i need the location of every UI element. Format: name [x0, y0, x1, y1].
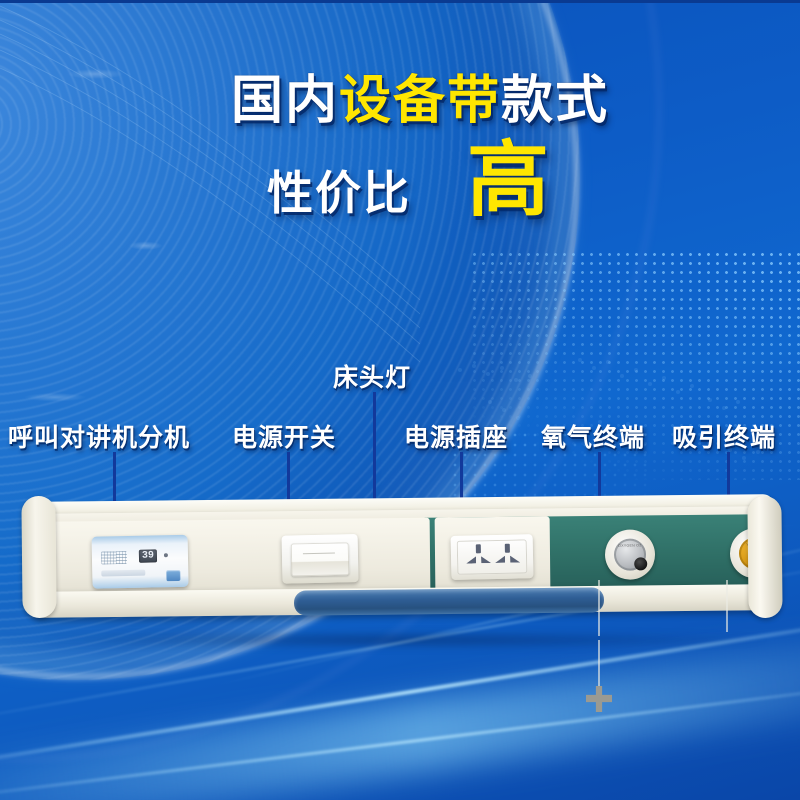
callout-label-socket: 电源插座 [404, 418, 508, 454]
card-slot [101, 570, 145, 577]
headline-emphasis: 高 [467, 144, 551, 218]
intercom-display: 39 [139, 549, 157, 562]
socket-faceplate [457, 539, 528, 574]
poster-canvas: 国内 设备带 款式 性价比 高 呼叫对讲机分机 电源开关 床头灯 电源插座 氧气… [0, 0, 800, 800]
pull-switch-cord [598, 640, 600, 690]
callout-label-suction: 吸引终端 [672, 418, 776, 454]
oxygen-terminal-core[interactable]: OXYGEN O2 [614, 538, 647, 571]
nurse-call-intercom-unit[interactable]: 39 [92, 535, 189, 589]
socket-pin-live-icon [495, 556, 505, 563]
panel-end-cap-left [21, 496, 56, 618]
socket-pin-neutral-icon [481, 556, 491, 563]
oxygen-hanging-cord [598, 580, 600, 636]
power-switch[interactable] [282, 534, 359, 584]
callout-label-switch: 电源开关 [232, 418, 336, 454]
headline-line-1: 国内 设备带 款式 [0, 72, 800, 130]
panel-end-cap-right [747, 496, 782, 618]
headline-seg-3: 款式 [501, 72, 609, 130]
indicator-led-icon [164, 553, 168, 557]
callout-label-oxygen: 氧气终端 [541, 418, 645, 454]
callout-label-intercom: 呼叫对讲机分机 [8, 418, 190, 454]
bed-lamp-diffuser-cover [294, 587, 604, 615]
headline-seg-2: 设备带 [339, 72, 501, 130]
speaker-grille-icon [101, 551, 127, 565]
socket-pin-neutral-icon [510, 555, 520, 562]
socket-outlet-left[interactable] [464, 543, 495, 570]
medical-bed-head-unit: 39 [22, 492, 782, 640]
socket-outlet-right[interactable] [493, 542, 524, 569]
top-edge-strip [0, 0, 800, 3]
rocker-paddle[interactable] [291, 542, 350, 576]
call-button[interactable] [166, 570, 180, 581]
oxygen-terminal-marking: OXYGEN O2 [614, 543, 646, 548]
headline-block: 国内 设备带 款式 性价比 高 [0, 72, 800, 218]
socket-pin-live-icon [466, 556, 476, 563]
headline-seg-1: 国内 [231, 72, 339, 130]
headline-subtext: 性价比 [267, 168, 411, 218]
headline-line-2: 性价比 高 [0, 144, 800, 218]
callout-label-bedlamp: 床头灯 [333, 358, 411, 394]
suction-hanging-cord [726, 580, 728, 632]
socket-pin-earth-icon [476, 544, 481, 553]
socket-pin-earth-icon [505, 544, 510, 553]
panel-cream-section-left [30, 518, 431, 596]
power-socket[interactable] [451, 534, 534, 580]
rocker-line [303, 553, 335, 555]
